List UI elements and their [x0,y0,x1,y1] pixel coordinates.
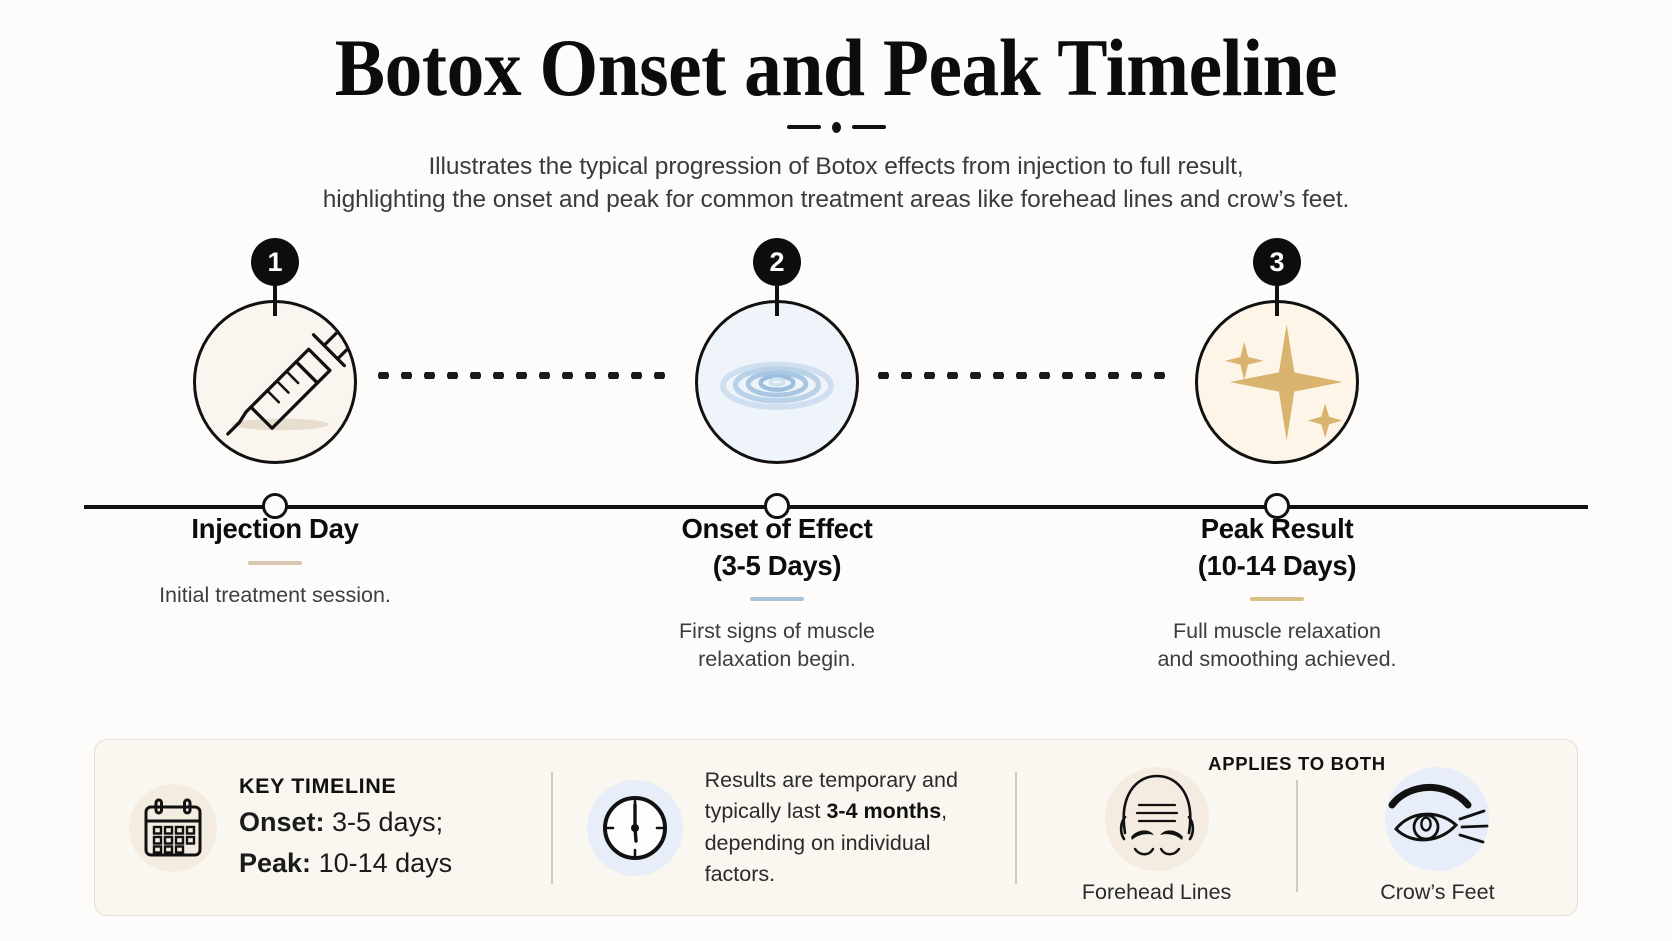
sparkle-icon [1195,300,1359,464]
peak-label: Peak: [239,848,311,878]
treatment-area-forehead[interactable]: Forehead Lines [1017,767,1296,905]
peak-value: 10-14 days [311,848,452,878]
step-accent-rule-1 [248,561,302,565]
crows-feet-eye-icon [1298,767,1577,871]
note-line-2-pre: typically last [705,799,827,823]
key-timeline-onset-line: Onset: 3-5 days; [239,804,452,840]
ornament-divider [0,122,1672,133]
badge-stem-1 [273,286,276,316]
subtitle-line-2: highlighting the onset and peak for comm… [0,183,1672,216]
key-timeline-eyebrow: KEY TIMELINE [239,774,452,799]
note-line-2: typically last 3-4 months, [705,796,990,827]
step-number-badge-3: 3 [1253,238,1301,286]
step-number-badge-1: 1 [251,238,299,286]
step-description-3-line-2: and smoothing achieved. [1127,645,1427,674]
crows-feet-caption: Crow’s Feet [1298,880,1577,905]
step-accent-rule-3 [1250,597,1304,601]
subtitle: Illustrates the typical progression of B… [0,150,1672,217]
note-duration: 3-4 months [826,799,941,823]
treatment-areas-row: Forehead Lines [1017,751,1577,905]
step-label-2-line-2: (3-5 Days) [627,548,927,584]
badge-stem-2 [775,286,778,316]
key-timeline-peak-line: Peak: 10-14 days [239,845,452,881]
step-description-2-line-1: First signs of muscle [627,617,927,646]
page-title: Botox Onset and Peak Timeline [67,26,1605,110]
step-number-3: 3 [1269,247,1284,277]
step-number-1: 1 [267,247,282,277]
step-accent-rule-2 [750,597,804,601]
subtitle-line-1: Illustrates the typical progression of B… [0,150,1672,183]
forehead-lines-caption: Forehead Lines [1017,880,1296,905]
clock-icon [587,780,683,876]
note-line-3: depending on individual factors. [705,828,990,890]
timeline-step-2[interactable]: 2 Onset of Effect (3-5 Days) First signs… [627,238,927,674]
ripple-icon [695,300,859,464]
step-description-1-line-1: Initial treatment session. [125,581,425,610]
step-label-3-line-2: (10-14 Days) [1127,548,1427,584]
badge-stem-3 [1275,286,1278,316]
syringe-icon [193,300,357,464]
results-note-section: Results are temporary and typically last… [553,765,1016,890]
timeline: 1 [0,238,1672,638]
onset-label: Onset: [239,807,325,837]
treatment-area-crows-feet[interactable]: Crow’s Feet [1298,767,1577,905]
step-description-3: Full muscle relaxation and smoothing ach… [1127,617,1427,674]
forehead-lines-icon [1017,767,1296,871]
step-description-1: Initial treatment session. [125,581,425,610]
step-description-3-line-1: Full muscle relaxation [1127,617,1427,646]
key-timeline-section: KEY TIMELINE Onset: 3-5 days; Peak: 10-1… [95,774,551,881]
divider-dash-left [787,125,821,129]
step-label-3: Peak Result (10-14 Days) [1127,511,1427,584]
divider-dash-right [852,125,886,129]
key-timeline-text: KEY TIMELINE Onset: 3-5 days; Peak: 10-1… [239,774,452,881]
step-description-2: First signs of muscle relaxation begin. [627,617,927,674]
step-number-2: 2 [769,247,784,277]
timeline-step-1[interactable]: 1 [125,238,425,609]
calendar-icon [129,784,217,872]
note-line-2-post: , [941,799,947,823]
results-note-text: Results are temporary and typically last… [705,765,990,890]
step-number-badge-2: 2 [753,238,801,286]
header: Botox Onset and Peak Timeline Illustrate… [0,0,1672,216]
onset-value: 3-5 days; [325,807,444,837]
step-description-2-line-2: relaxation begin. [627,645,927,674]
timeline-step-3[interactable]: 3 Peak Result (10-14 Days) Full muscle r… [1127,238,1427,674]
step-label-2: Onset of Effect (3-5 Days) [627,511,927,584]
summary-panel: KEY TIMELINE Onset: 3-5 days; Peak: 10-1… [94,739,1578,916]
divider-dot-icon [832,122,841,133]
note-line-1: Results are temporary and [705,765,990,796]
treatment-areas-section: APPLIES TO BOTH [1017,740,1577,915]
